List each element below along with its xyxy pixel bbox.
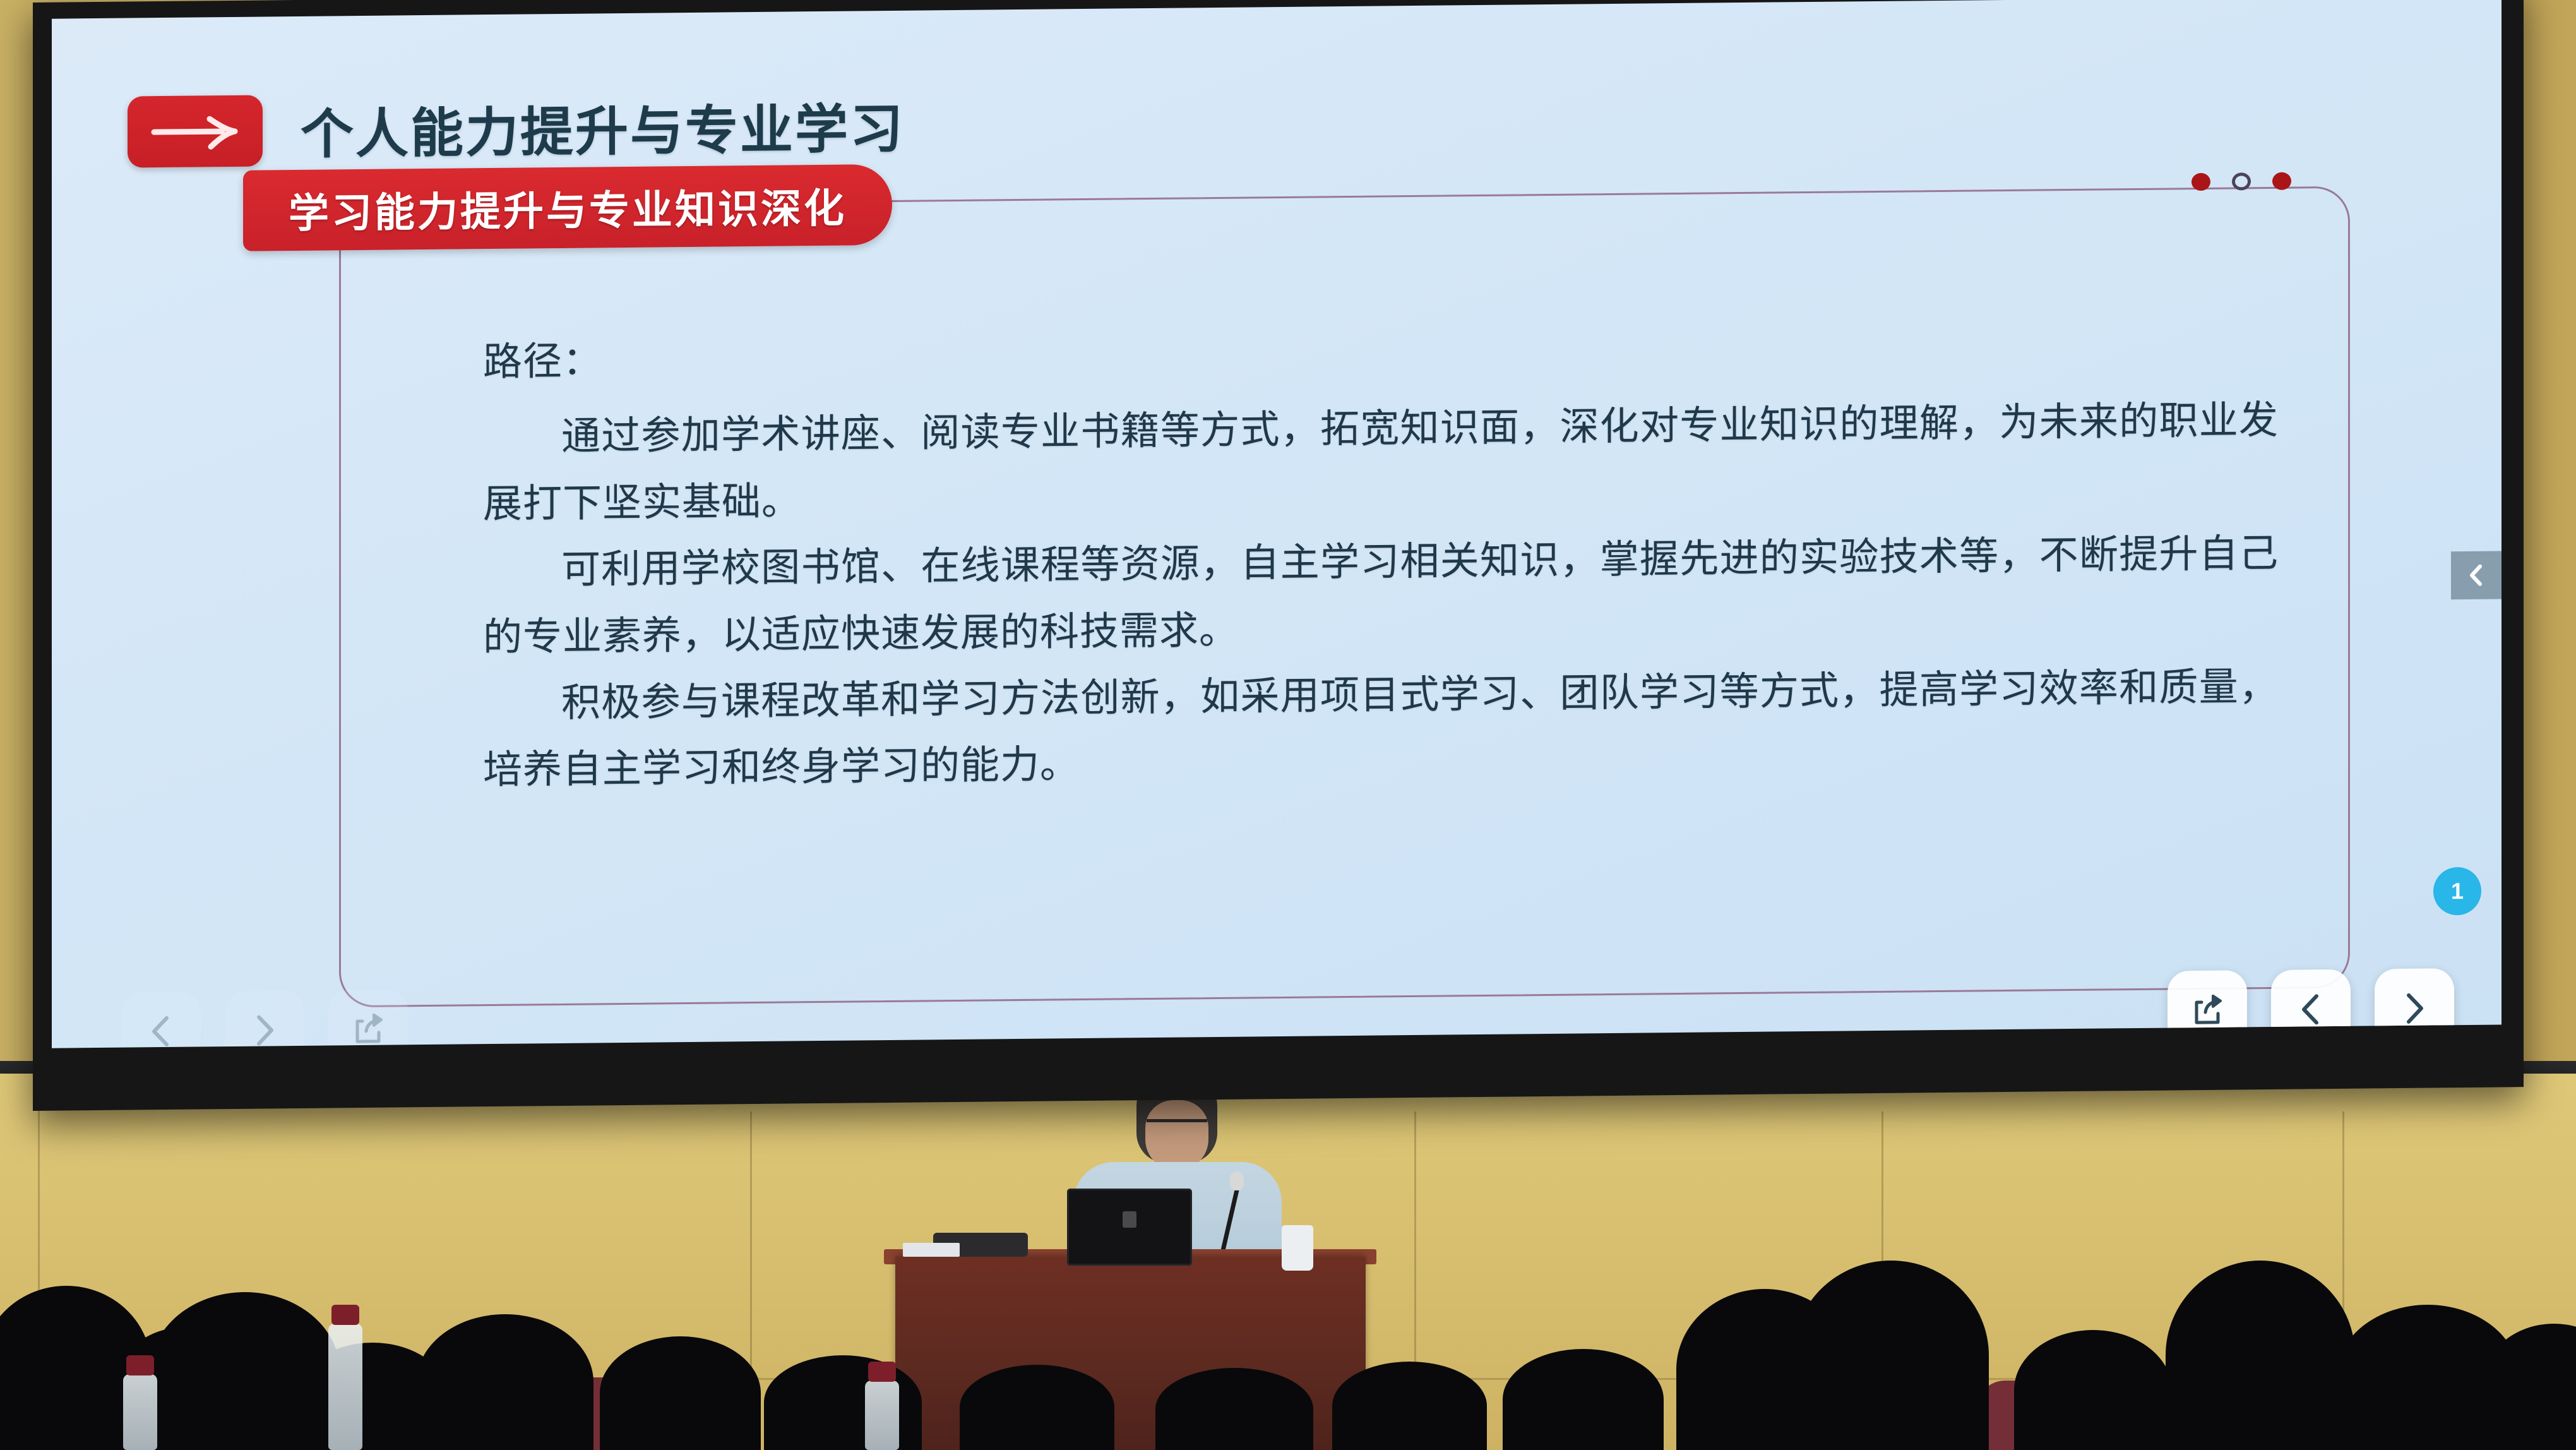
audience-head [1793,1261,1989,1450]
body-paragraph: 通过参加学术讲座、阅读专业书籍等方式，拓宽知识面，深化对专业知识的理解，为未来的… [483,387,2279,537]
chevron-right-icon [2395,988,2434,1028]
slide-title-row: 个人能力提升与专业学习 [128,87,905,171]
water-bottle [328,1324,362,1450]
laptop-logo-icon [1123,1211,1136,1228]
bottle-cap [126,1355,154,1375]
slide-body-text: 路径： 通过参加学术讲座、阅读专业书籍等方式，拓宽知识面，深化对专业知识的理解，… [483,312,2279,804]
water-bottle [865,1381,899,1450]
share-icon [349,1010,388,1048]
prev-slide-button[interactable] [2271,969,2351,1048]
prev-slide-button[interactable] [121,991,201,1048]
section-banner-label: 学习能力提升与专业知识深化 [289,176,847,239]
audience-head [2166,1261,2355,1450]
share-icon [2188,991,2227,1031]
audience-head [1155,1368,1313,1450]
audience-head [600,1336,761,1450]
chevron-left-icon [2291,990,2330,1029]
content-panel: 学习能力提升与专业知识深化 路径： 通过参加学术讲座、阅读专业书籍等方式，拓宽知… [339,186,2350,1008]
progress-dot [2272,172,2291,190]
body-paragraph: 可利用学校图书馆、在线课程等资源，自主学习相关知识，掌握先进的实验技术等，不断提… [483,520,2279,671]
sidebar-collapse-handle[interactable] [2451,551,2501,599]
progress-dot [2191,173,2210,191]
desk-paper [903,1243,960,1257]
glasses-icon [1147,1119,1207,1132]
share-button[interactable] [2168,970,2247,1048]
slide-progress-dots [2191,172,2291,191]
audience-head [417,1314,593,1450]
page-number-badge[interactable]: 1 [2433,867,2481,916]
next-slide-button[interactable] [2375,968,2454,1048]
microphone-head [1230,1171,1244,1190]
next-slide-button[interactable] [225,990,304,1048]
audience-head [960,1365,1114,1450]
body-paragraph: 积极参与课程改革和学习方法创新，如采用项目式学习、团队学习等方式，提高学习效率和… [483,654,2279,804]
section-banner: 学习能力提升与专业知识深化 [243,164,892,251]
audience-head [1503,1349,1664,1450]
bottle-cap [868,1362,896,1382]
right-arrow-icon [128,95,263,168]
audience-head [2014,1330,2172,1450]
audience-head [1332,1362,1487,1450]
slide-controls-left [121,989,408,1048]
chevron-left-icon [141,1012,181,1048]
path-label: 路径： [483,312,2279,396]
bottle-cap [331,1305,359,1325]
chevron-right-icon [245,1010,284,1048]
projector-screen-frame: 个人能力提升与专业学习 学习能力提升与专业知识深化 路径： 通过参加学术讲座、阅… [33,0,2524,1111]
share-button[interactable] [328,989,408,1048]
presentation-slide: 个人能力提升与专业学习 学习能力提升与专业知识深化 路径： 通过参加学术讲座、阅… [52,0,2501,1048]
progress-dot [2232,172,2251,190]
slide-controls-right [2168,968,2454,1048]
projector-screen: 个人能力提升与专业学习 学习能力提升与专业知识深化 路径： 通过参加学术讲座、阅… [52,0,2501,1048]
chevron-left-icon [2465,563,2488,588]
presenter-face [1145,1100,1208,1171]
water-bottle [123,1374,157,1450]
cup [1282,1225,1313,1271]
page-title: 个人能力提升与专业学习 [301,87,905,169]
